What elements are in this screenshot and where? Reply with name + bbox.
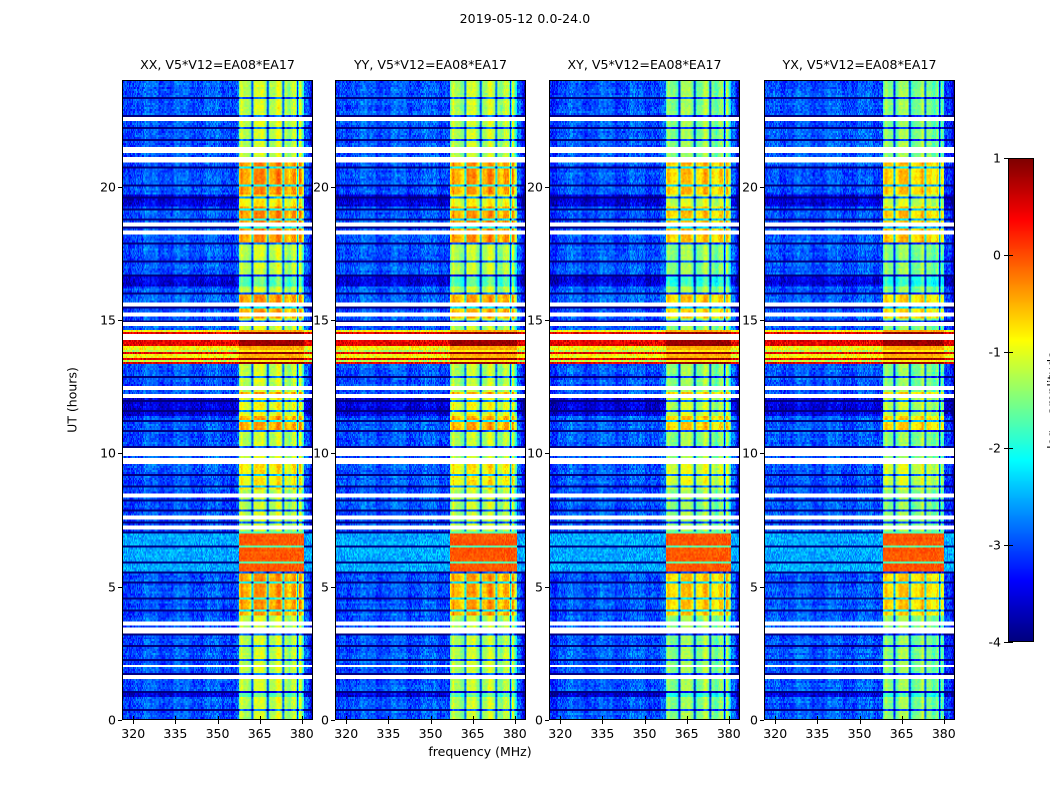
panel-xx-xtick-mark-380 [302, 720, 303, 724]
panel-xy-xtick-label-320: 320 [548, 726, 572, 741]
panel-yx-xtick-inner-320 [775, 716, 776, 720]
panel-yx-ytick-label-10: 10 [742, 446, 758, 461]
panel-xy-xtick-label-335: 335 [590, 726, 614, 741]
panel-yy-xtick-inner-380 [515, 716, 516, 720]
panel-yx-xtick-inner-380 [944, 716, 945, 720]
panel-xy-ytick-label-10: 10 [527, 446, 543, 461]
colorbar-label: log10 amplitude [1045, 351, 1050, 449]
panel-yy-xtick-inner-335 [388, 716, 389, 720]
panel-xy-ytick-mark-0 [545, 720, 549, 721]
panel-yx-ytick-mark-0 [760, 720, 764, 721]
panel-yy-ytick-mark-10 [331, 453, 335, 454]
panel-xy-xtick-mark-350 [645, 720, 646, 724]
panel-yx-xtick-label-350: 350 [848, 726, 872, 741]
colorbar-tick-inner-1 [1008, 158, 1013, 159]
panel-yy-xtick-label-350: 350 [419, 726, 443, 741]
panel-xx-xtick-label-320: 320 [121, 726, 145, 741]
panel-xx-xtick-inner-320 [133, 716, 134, 720]
panel-yy-ytick-mark-15 [331, 320, 335, 321]
panel-xy-waterfall-image [550, 81, 739, 719]
colorbar-tick-inner-0 [1008, 255, 1013, 256]
panel-xx-waterfall-image [123, 81, 312, 719]
panel-xy-xtick-mark-335 [602, 720, 603, 724]
panel-yy-xtick-mark-320 [346, 720, 347, 724]
panel-xy-xtick-mark-320 [560, 720, 561, 724]
panel-yx-xtick-label-365: 365 [890, 726, 914, 741]
panel-yy-ytick-mark-20 [331, 187, 335, 188]
panel-yy-ytick-label-20: 20 [313, 179, 329, 194]
panel-xy-xtick-mark-380 [729, 720, 730, 724]
panel-yy-xtick-inner-365 [473, 716, 474, 720]
panel-yy-ytick-mark-0 [331, 720, 335, 721]
panel-xx-ytick-label-0: 0 [108, 713, 116, 728]
panel-yx-xtick-label-335: 335 [805, 726, 829, 741]
panel-yy-ytick-label-15: 15 [313, 313, 329, 328]
panel-xx-title: XX, V5*V12=EA08*EA17 [140, 57, 295, 72]
panel-yx-ytick-mark-10 [760, 453, 764, 454]
panel-xx-ytick-mark-5 [118, 587, 122, 588]
panel-yy-axes[interactable] [335, 80, 526, 720]
panel-xy-ytick-mark-5 [545, 587, 549, 588]
figure-canvas: 2019-05-12 0.0-24.0 XX, V5*V12=EA08*EA17… [0, 0, 1050, 800]
panel-xx-xtick-label-380: 380 [290, 726, 314, 741]
panel-xy-xtick-label-380: 380 [717, 726, 741, 741]
panel-yx-xtick-mark-380 [944, 720, 945, 724]
panel-xx-xtick-label-365: 365 [248, 726, 272, 741]
panel-xx-xtick-inner-380 [302, 716, 303, 720]
panel-xx-xtick-mark-365 [260, 720, 261, 724]
panel-xy[interactable]: XY, V5*V12=EA08*EA1732033535036538005101… [549, 80, 740, 720]
panel-xx-ytick-mark-10 [118, 453, 122, 454]
panel-yx-xtick-mark-335 [817, 720, 818, 724]
panel-yx-xtick-inner-335 [817, 716, 818, 720]
panel-yy-xtick-mark-380 [515, 720, 516, 724]
panel-yx-xtick-mark-365 [902, 720, 903, 724]
panel-yy-xtick-mark-365 [473, 720, 474, 724]
panel-xx-ytick-label-5: 5 [108, 579, 116, 594]
panel-xx[interactable]: XX, V5*V12=EA08*EA1732033535036538005101… [122, 80, 313, 720]
panel-yy-xtick-inner-320 [346, 716, 347, 720]
panel-yx[interactable]: YX, V5*V12=EA08*EA1732033535036538005101… [764, 80, 955, 720]
colorbar[interactable]: -4-3-2-101 [1008, 158, 1034, 642]
panel-yx-ytick-label-15: 15 [742, 313, 758, 328]
panel-xy-xtick-label-350: 350 [633, 726, 657, 741]
panel-xx-xtick-inner-350 [218, 716, 219, 720]
panel-xx-ytick-mark-0 [118, 720, 122, 721]
panel-xy-ytick-label-0: 0 [535, 713, 543, 728]
panel-yy-xtick-mark-335 [388, 720, 389, 724]
panel-xx-xtick-inner-335 [175, 716, 176, 720]
colorbar-gradient [1008, 158, 1034, 642]
panel-yx-ytick-label-0: 0 [750, 713, 758, 728]
colorbar-label-main: log [1045, 430, 1050, 449]
panel-xy-ytick-label-15: 15 [527, 313, 543, 328]
panel-xx-xtick-label-350: 350 [206, 726, 230, 741]
panel-yx-xtick-mark-320 [775, 720, 776, 724]
panel-yx-ytick-mark-5 [760, 587, 764, 588]
figure-suptitle: 2019-05-12 0.0-24.0 [0, 11, 1050, 26]
panel-xx-ytick-label-15: 15 [100, 313, 116, 328]
panel-yx-xtick-inner-365 [902, 716, 903, 720]
panel-yy-xtick-mark-350 [431, 720, 432, 724]
panel-xy-ytick-label-20: 20 [527, 179, 543, 194]
colorbar-label-tail: amplitude [1045, 351, 1050, 418]
panel-yy-xtick-label-380: 380 [503, 726, 527, 741]
colorbar-tick-label-0: 0 [993, 247, 1001, 262]
panel-xy-xtick-inner-335 [602, 716, 603, 720]
panel-yy-title: YY, V5*V12=EA08*EA17 [354, 57, 507, 72]
panel-yx-xtick-inner-350 [860, 716, 861, 720]
colorbar-tick-label--4: -4 [989, 635, 1001, 650]
panel-yx-ytick-label-5: 5 [750, 579, 758, 594]
panel-xy-xtick-inner-320 [560, 716, 561, 720]
panel-xy-xtick-inner-380 [729, 716, 730, 720]
panel-yx-xtick-label-320: 320 [763, 726, 787, 741]
panel-xx-ytick-label-10: 10 [100, 446, 116, 461]
panel-yy-ytick-label-5: 5 [321, 579, 329, 594]
panel-yy-xtick-label-320: 320 [334, 726, 358, 741]
panel-yx-ytick-mark-20 [760, 187, 764, 188]
panel-yy-waterfall-image [336, 81, 525, 719]
panel-xx-xtick-mark-335 [175, 720, 176, 724]
panel-yx-xtick-label-380: 380 [932, 726, 956, 741]
panel-xx-ytick-mark-20 [118, 187, 122, 188]
panel-yy-xtick-label-335: 335 [376, 726, 400, 741]
panel-yy-xtick-label-365: 365 [461, 726, 485, 741]
panel-xy-ytick-mark-15 [545, 320, 549, 321]
colorbar-tick-label--2: -2 [989, 441, 1001, 456]
panel-xy-ytick-mark-10 [545, 453, 549, 454]
panel-xx-xtick-mark-350 [218, 720, 219, 724]
panel-xx-xtick-mark-320 [133, 720, 134, 724]
y-axis-label: UT (hours) [65, 367, 80, 433]
panel-yx-axes[interactable] [764, 80, 955, 720]
panel-xy-xtick-mark-365 [687, 720, 688, 724]
panel-xy-ytick-mark-20 [545, 187, 549, 188]
panel-xx-ytick-mark-15 [118, 320, 122, 321]
panel-yy-ytick-mark-5 [331, 587, 335, 588]
panel-xy-xtick-inner-350 [645, 716, 646, 720]
panel-yy-ytick-label-0: 0 [321, 713, 329, 728]
panel-xy-ytick-label-5: 5 [535, 579, 543, 594]
panel-xy-xtick-inner-365 [687, 716, 688, 720]
panel-yx-title: YX, V5*V12=EA08*EA17 [783, 57, 937, 72]
colorbar-tick-label--3: -3 [989, 538, 1001, 553]
panel-xy-title: XY, V5*V12=EA08*EA17 [568, 57, 722, 72]
x-axis-label: frequency (MHz) [0, 744, 960, 759]
panel-xx-xtick-label-335: 335 [163, 726, 187, 741]
panel-xx-ytick-label-20: 20 [100, 179, 116, 194]
colorbar-tick-inner--2 [1008, 448, 1013, 449]
panel-yy-xtick-inner-350 [431, 716, 432, 720]
panel-xy-axes[interactable] [549, 80, 740, 720]
colorbar-tick-label--1: -1 [989, 344, 1001, 359]
panel-yy-ytick-label-10: 10 [313, 446, 329, 461]
panel-yx-waterfall-image [765, 81, 954, 719]
colorbar-tick-inner--4 [1008, 642, 1013, 643]
panel-xx-axes[interactable] [122, 80, 313, 720]
panel-yx-xtick-mark-350 [860, 720, 861, 724]
panel-xx-xtick-inner-365 [260, 716, 261, 720]
colorbar-tick-inner--3 [1008, 545, 1013, 546]
colorbar-tick-inner--1 [1008, 352, 1013, 353]
panel-yy[interactable]: YY, V5*V12=EA08*EA1732033535036538005101… [335, 80, 526, 720]
panel-xy-xtick-label-365: 365 [675, 726, 699, 741]
panel-yx-ytick-mark-15 [760, 320, 764, 321]
colorbar-tick-label-1: 1 [993, 151, 1001, 166]
panel-yx-ytick-label-20: 20 [742, 179, 758, 194]
